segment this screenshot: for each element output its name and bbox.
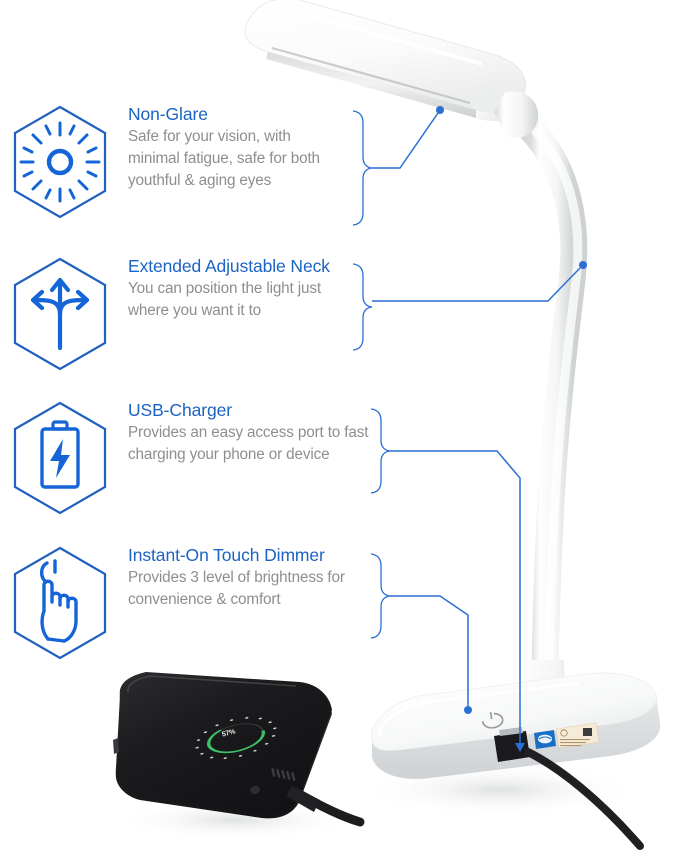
etl-badge: [534, 730, 556, 749]
phone-side-button: [113, 738, 119, 754]
touch-hand-icon: [8, 545, 112, 661]
feature-title: USB-Charger: [128, 400, 378, 421]
feature-description: Provides 3 level of brightness for conve…: [128, 567, 378, 611]
sun-non-glare-icon: [8, 104, 112, 220]
phone: [113, 672, 360, 822]
feature-description: Safe for your vision, with minimal fatig…: [128, 126, 360, 192]
adjustable-arrows-icon: [8, 256, 112, 372]
product-infographic: 57%: [0, 0, 679, 852]
feature-description: You can position the light just where yo…: [128, 278, 360, 322]
feature-description: Provides an easy access port to fast cha…: [128, 422, 378, 466]
feature-title: Non-Glare: [128, 104, 360, 125]
feature-title: Extended Adjustable Neck: [128, 256, 360, 277]
battery-bolt-icon: [8, 400, 112, 516]
lamp-base: [371, 673, 660, 846]
feature-title: Instant-On Touch Dimmer: [128, 545, 378, 566]
